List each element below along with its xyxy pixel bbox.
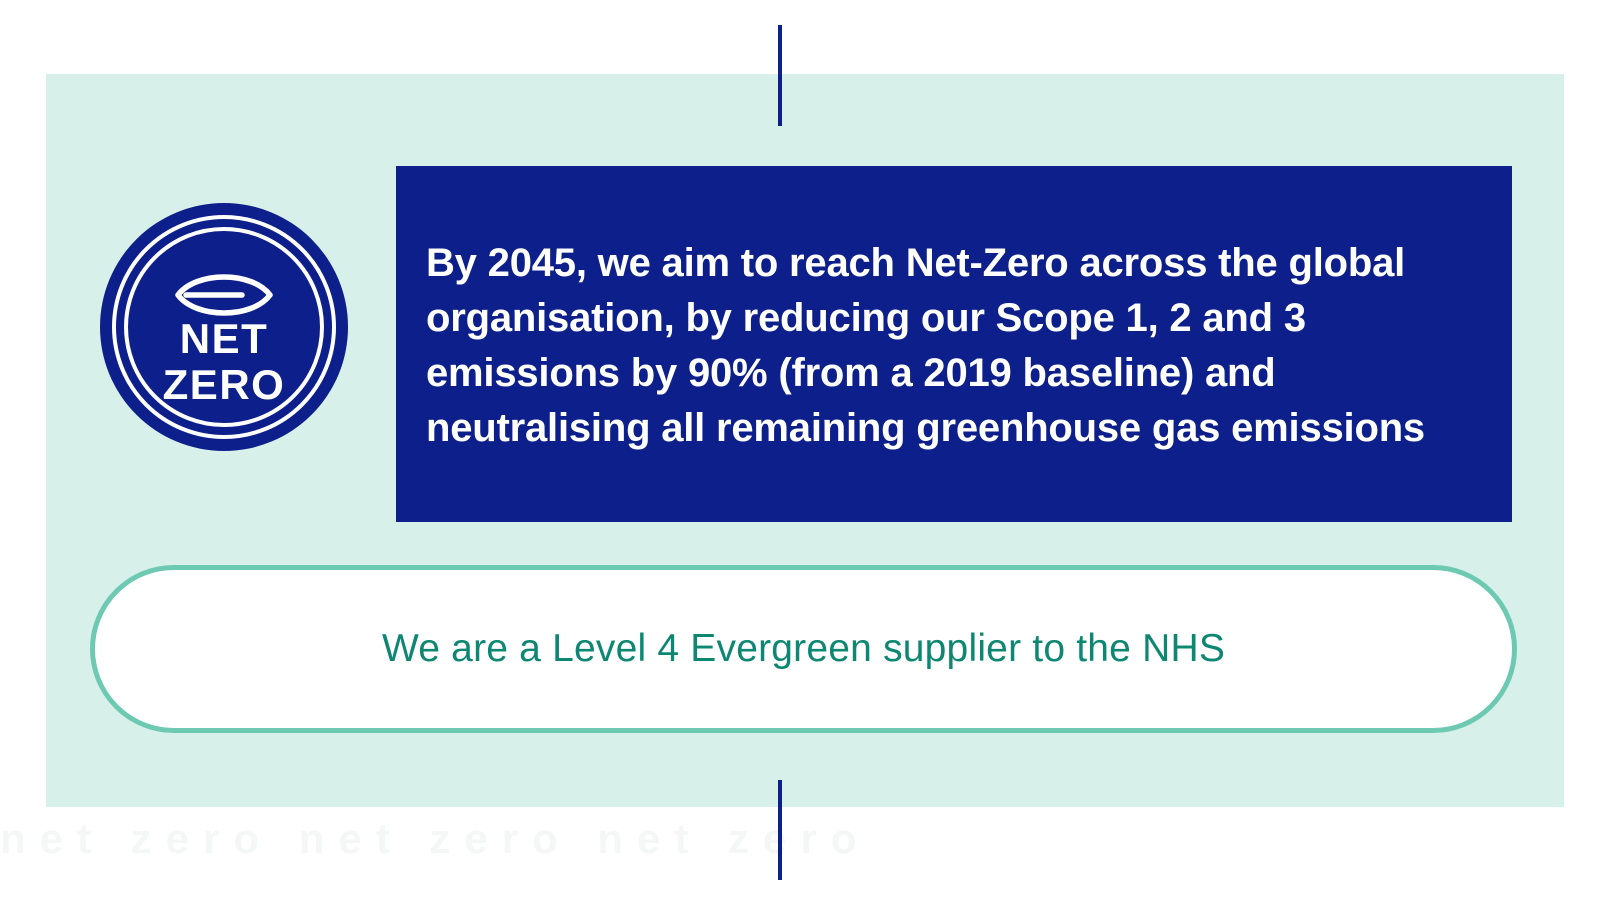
evergreen-supplier-text: We are a Level 4 Evergreen supplier to t… (382, 626, 1225, 673)
slide-canvas: net zero net zero net zero NET ZERO By 2… (0, 0, 1600, 900)
vertical-rule-bottom (778, 780, 782, 880)
net-zero-statement-text: By 2045, we aim to reach Net-Zero across… (426, 236, 1458, 455)
net-zero-badge-graphic: NET ZERO (100, 203, 348, 451)
background-watermark: net zero net zero net zero (0, 815, 1600, 895)
badge-line-two: ZERO (163, 361, 286, 408)
evergreen-supplier-pill: We are a Level 4 Evergreen supplier to t… (90, 565, 1517, 733)
badge-line-one: NET (180, 315, 269, 362)
net-zero-badge: NET ZERO (100, 203, 348, 451)
vertical-rule-top (778, 25, 782, 126)
net-zero-statement-box: By 2045, we aim to reach Net-Zero across… (396, 166, 1512, 522)
